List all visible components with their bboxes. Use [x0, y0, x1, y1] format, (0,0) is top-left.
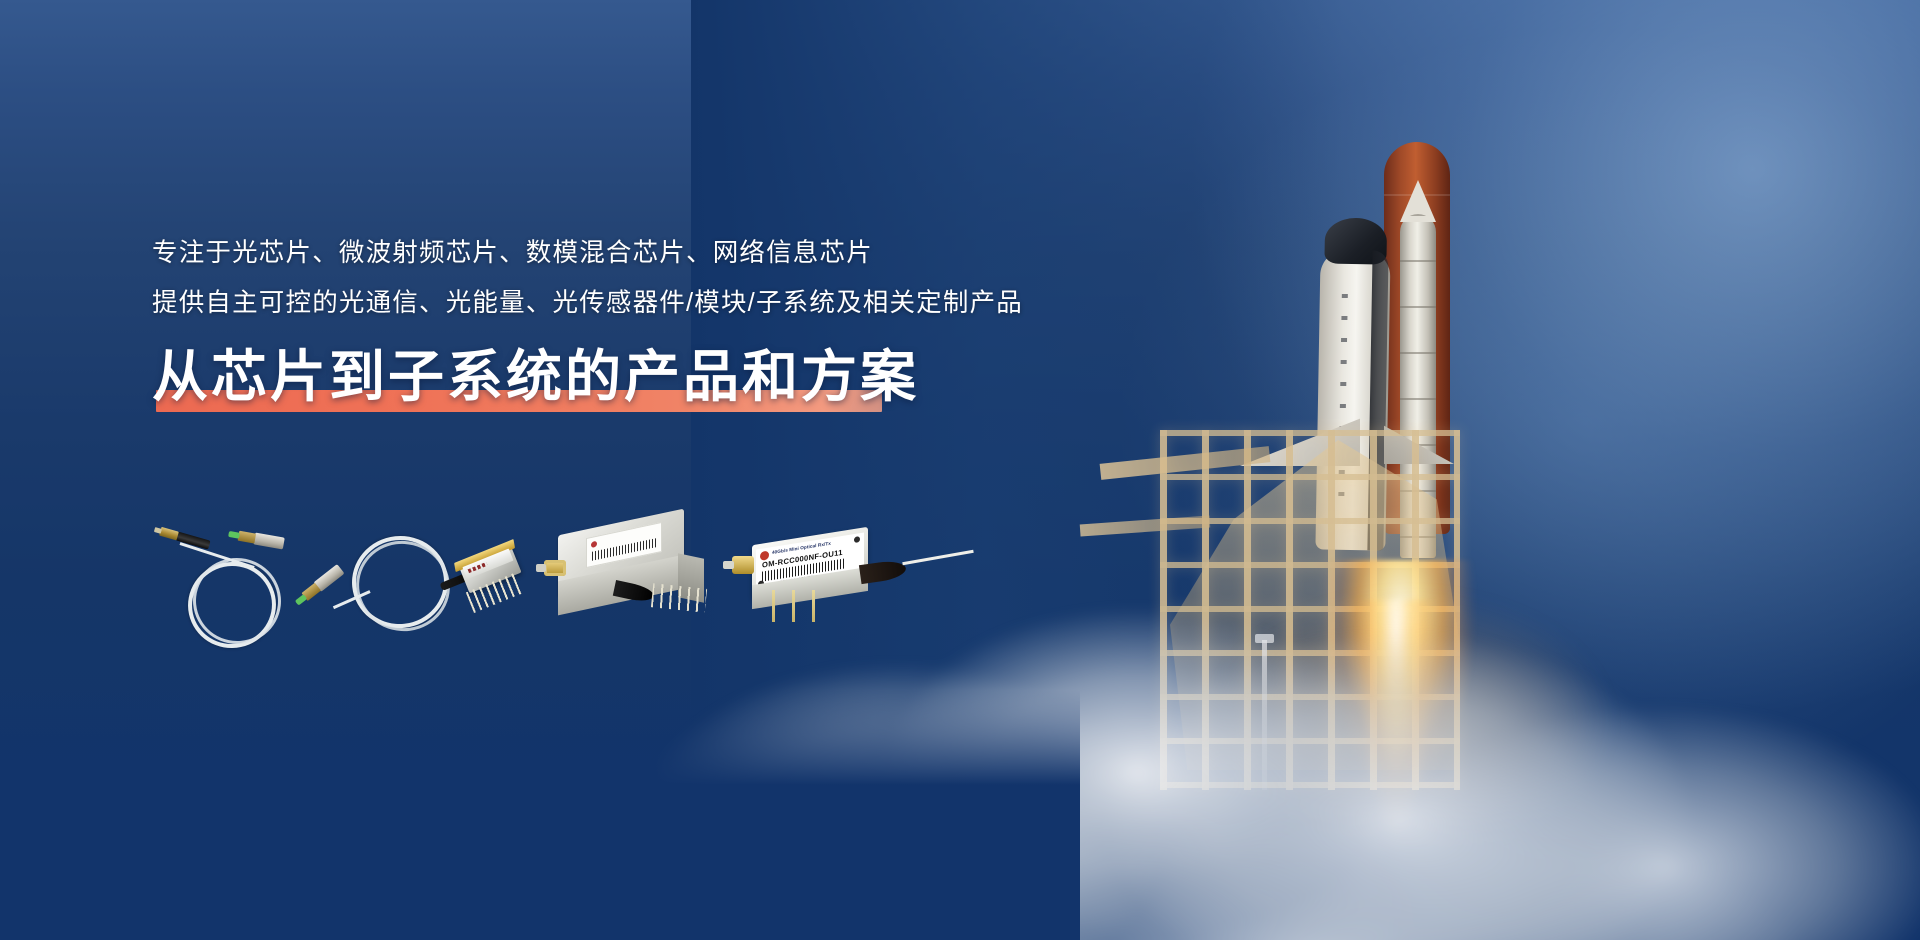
brand-dot-icon [591, 541, 597, 548]
pigtail-connector-icon [313, 564, 344, 592]
product-showcase-row: 40Gb/s Mini Optical Rx/Tx OM-RCC000NF-OU… [150, 520, 980, 710]
sma-connector-icon [544, 560, 566, 576]
product-rf-metal-box-module [540, 520, 720, 630]
navy-floor-band [0, 690, 1080, 940]
receiver-sma-connector-icon [732, 556, 754, 574]
subtitle-line-2: 提供自主可控的光通信、光能量、光传感器件/模块/子系统及相关定制产品 [152, 278, 1132, 328]
product-butterfly-laser-module [322, 526, 532, 656]
receiver-mount-hole-right [854, 536, 860, 543]
space-shuttle-launch-scene [1020, 0, 1920, 940]
product-optical-receiver-module: 40Gb/s Mini Optical Rx/Tx OM-RCC000NF-OU… [728, 532, 968, 652]
subtitle-line-1: 专注于光芯片、微波射频芯片、数模混合芯片、网络信息芯片 [152, 228, 1132, 278]
hero-copy: 专注于光芯片、微波射频芯片、数模混合芯片、网络信息芯片 提供自主可控的光通信、光… [152, 228, 1132, 418]
fc-connector-icon [253, 532, 285, 549]
headline-wrapper: 从芯片到子系统的产品和方案 [152, 342, 1132, 418]
product-fiber-patch-cord-coil [158, 530, 318, 650]
box-pin-row [651, 583, 707, 613]
receiver-output-fiber [902, 550, 973, 565]
page-title: 从芯片到子系统的产品和方案 [152, 342, 1132, 412]
hero-banner: 专注于光芯片、微波射频芯片、数模混合芯片、网络信息芯片 提供自主可控的光通信、光… [0, 0, 1920, 940]
receiver-pin-row [768, 590, 830, 624]
